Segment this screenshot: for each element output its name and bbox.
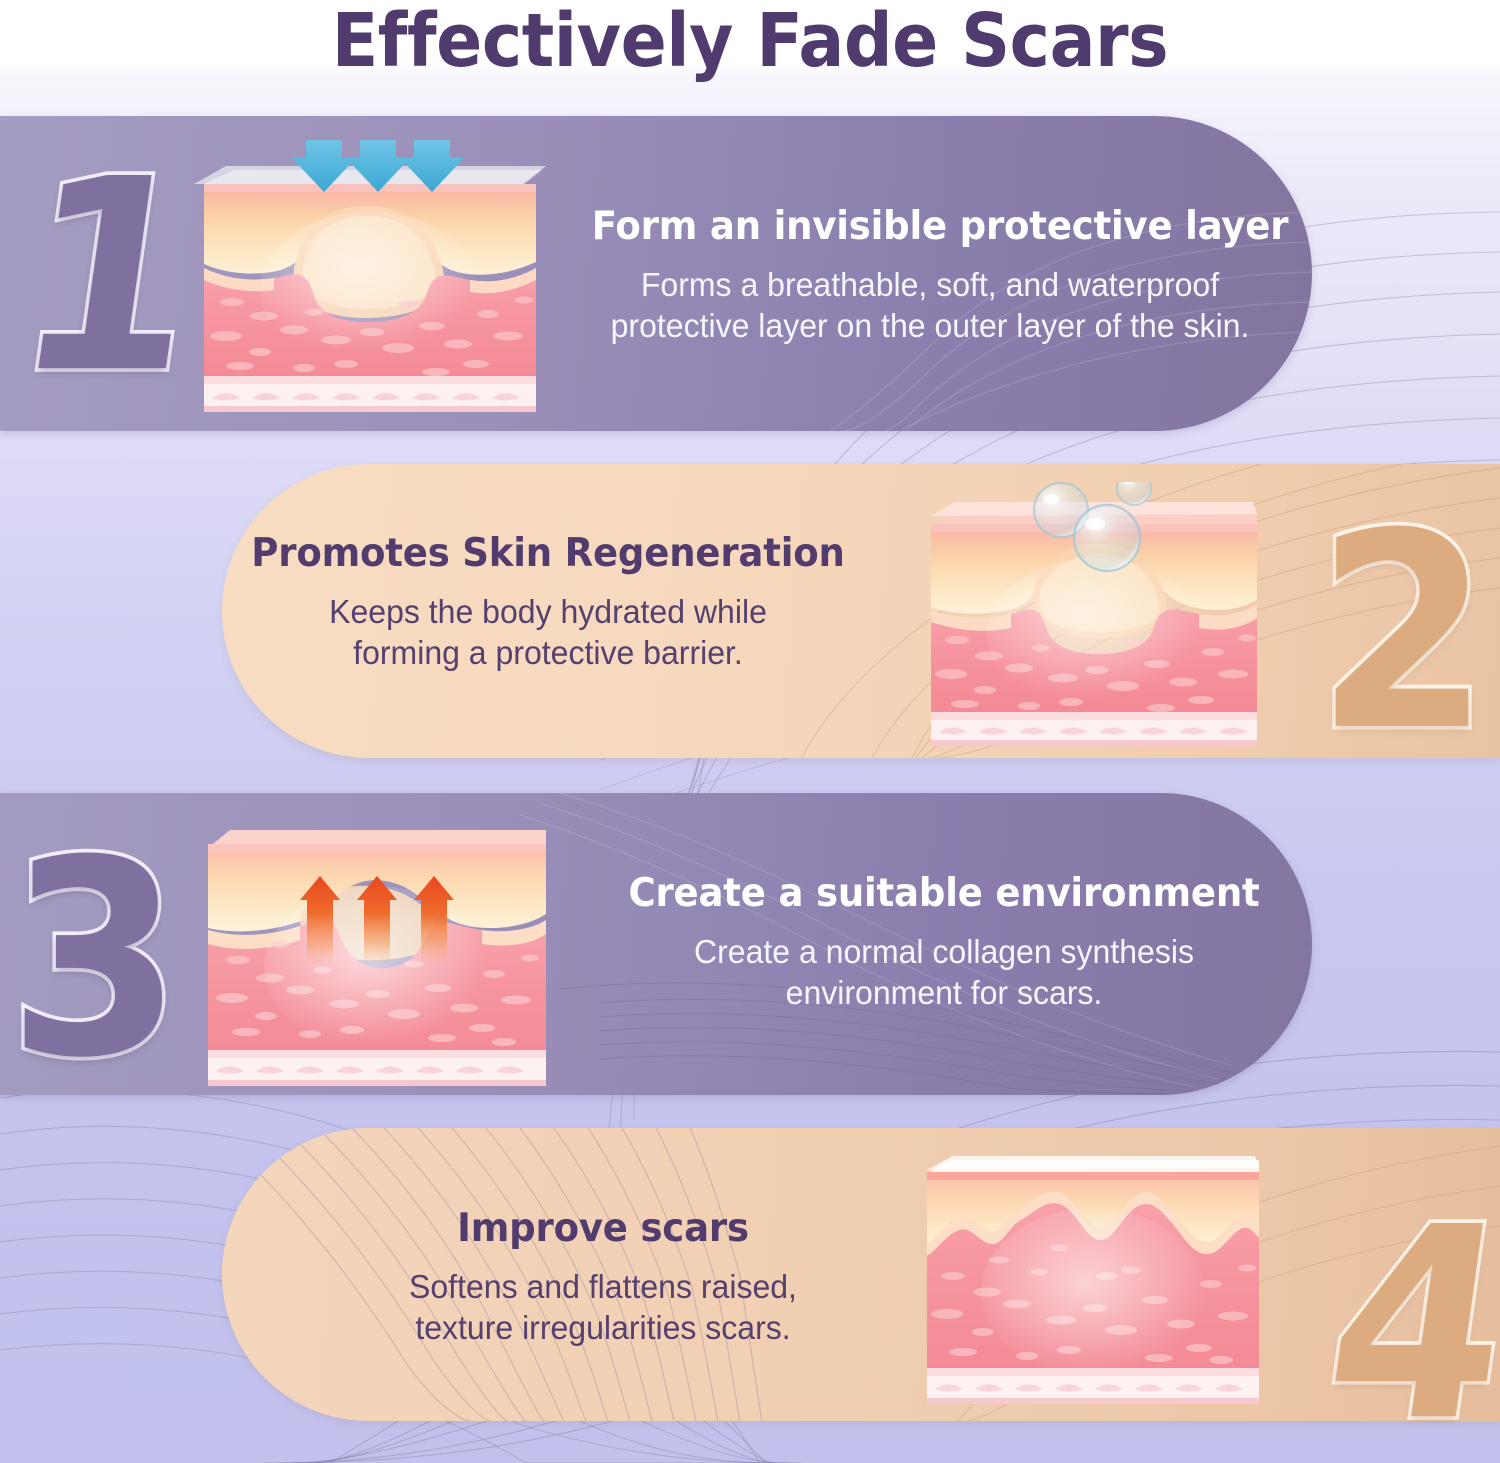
skin-cross-section-with-blue-arrows-icon — [186, 140, 554, 412]
step-1-text-block: Form an invisible protective layer Forms… — [574, 204, 1286, 347]
skin-cross-section-with-bubbles-icon — [909, 482, 1279, 746]
step-3-body-line-2: environment for scars. — [614, 972, 1274, 1013]
skin-cross-section-with-orange-arrows-icon — [194, 818, 559, 1086]
step-2-text-block: Promotes Skin Regeneration Keeps the bod… — [232, 531, 864, 674]
step-4-body-line-1: Softens and flattens raised, — [309, 1266, 897, 1307]
step-1-heading: Form an invisible protective layer — [592, 204, 1268, 249]
step-3-heading: Create a suitable environment — [621, 871, 1267, 916]
step-4-body-line-2: texture irregularities scars. — [309, 1307, 897, 1348]
step-4-text-block: Improve scars Softens and flattens raise… — [300, 1206, 906, 1349]
step-4-heading: Improve scars — [315, 1206, 891, 1251]
step-1-body-line-1: Forms a breathable, soft, and waterproof — [585, 264, 1276, 305]
step-3-body-line-1: Create a normal collagen synthesis — [614, 931, 1274, 972]
page-title: Effectively Fade Scars — [60, 0, 1440, 84]
skin-cross-section-healed-icon — [909, 1152, 1277, 1417]
step-3-text-block: Create a suitable environment Create a n… — [604, 871, 1284, 1014]
step-number-3: 3 — [8, 825, 182, 1095]
step-1-body: Forms a breathable, soft, and waterproof… — [585, 264, 1276, 347]
step-4-body: Softens and flattens raised, texture irr… — [309, 1266, 897, 1349]
step-number-2: 2 — [1316, 498, 1490, 768]
step-1-body-line-2: protective layer on the outer layer of t… — [585, 305, 1276, 346]
step-2-heading: Promotes Skin Regeneration — [248, 531, 848, 576]
step-number-1: 1 — [3, 145, 214, 410]
step-2-body-line-2: forming a protective barrier. — [241, 632, 854, 673]
step-2-body-line-1: Keeps the body hydrated while — [241, 591, 854, 632]
step-3-body: Create a normal collagen synthesis envir… — [614, 931, 1274, 1014]
step-2-body: Keeps the body hydrated while forming a … — [241, 591, 854, 674]
